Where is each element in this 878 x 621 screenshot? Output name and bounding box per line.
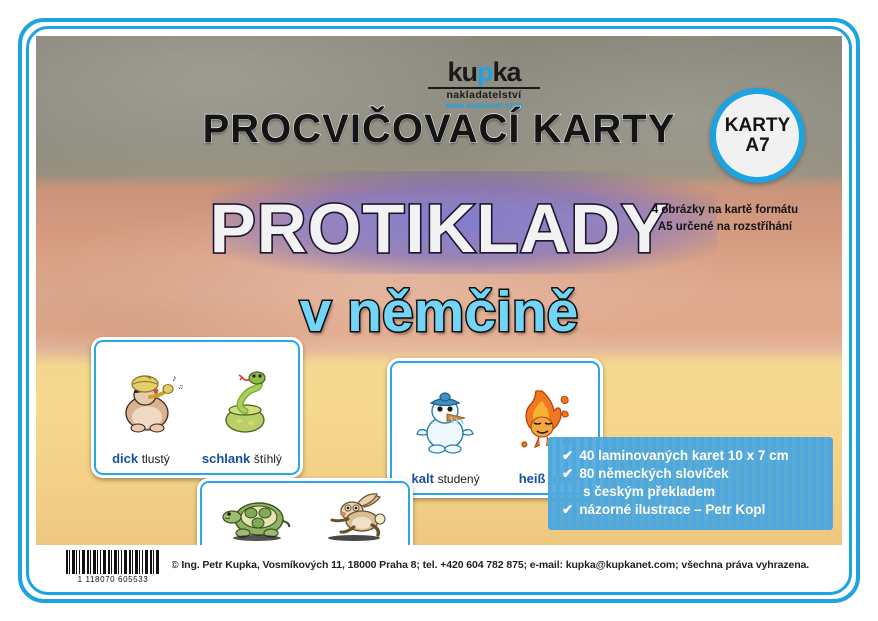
barcode-bars bbox=[66, 550, 160, 574]
card-illustrations: ♪ ♫ bbox=[96, 342, 298, 451]
card-inner: ♪ ♫ bbox=[94, 340, 300, 475]
logo-subtitle: nakladatelství bbox=[428, 87, 540, 101]
product-cover: kupka nakladatelství www.kupkanet.com PR… bbox=[18, 18, 860, 603]
label-kalt: kalt studený bbox=[412, 471, 480, 486]
features-list: ✔ 40 laminovaných karet 10 x 7 cm ✔ 80 n… bbox=[562, 447, 821, 519]
barcode-digits: 1 118070 605533 bbox=[78, 575, 149, 584]
svg-text:♫: ♫ bbox=[178, 384, 183, 391]
card-labels: dick tlustý schlank štíhlý bbox=[96, 451, 298, 473]
fat-snake-charmer-icon: ♪ ♫ bbox=[114, 363, 186, 435]
logo-word-part3: ka bbox=[492, 57, 520, 87]
sample-card-dick-schlank: ♪ ♫ bbox=[91, 337, 303, 478]
barcode: 1 118070 605533 bbox=[54, 545, 172, 585]
feature-text-2: 80 německých slovíček bbox=[579, 465, 728, 483]
feature-item-2: ✔ 80 německých slovíček bbox=[562, 465, 821, 483]
page-subtitle: v němčině bbox=[29, 279, 849, 345]
turtle-icon bbox=[221, 493, 293, 543]
label-dick: dick tlustý bbox=[112, 451, 170, 466]
badge-line-2: A7 bbox=[745, 136, 769, 156]
copyright-text: © Ing. Petr Kupka, Vosmíkových 11, 18000… bbox=[154, 559, 842, 571]
logo-word-part2: p bbox=[477, 57, 493, 87]
snowman-icon bbox=[411, 383, 483, 455]
thin-snake-icon bbox=[209, 363, 281, 435]
logo-word-part1: ku bbox=[447, 57, 477, 87]
badge-line-1: KARTY bbox=[725, 116, 790, 136]
svg-text:♪: ♪ bbox=[172, 373, 177, 383]
feature-item-1: ✔ 40 laminovaných karet 10 x 7 cm bbox=[562, 447, 821, 465]
format-note-line-1: 4 obrázky na kartě formátu bbox=[639, 202, 811, 219]
format-note: 4 obrázky na kartě formátu A5 určené na … bbox=[639, 202, 811, 235]
features-box: ✔ 40 laminovaných karet 10 x 7 cm ✔ 80 n… bbox=[548, 437, 833, 530]
check-icon: ✔ bbox=[562, 465, 573, 483]
rabbit-icon bbox=[318, 493, 390, 543]
logo-wordmark: kupka bbox=[428, 59, 540, 86]
feature-text-3: názorné ilustrace – Petr Kopl bbox=[579, 501, 765, 519]
label-schlank: schlank štíhlý bbox=[202, 451, 282, 466]
format-note-line-2: A5 určené na rozstříhání bbox=[639, 219, 811, 236]
footer-strip: 1 118070 605533 © Ing. Petr Kupka, Vosmí… bbox=[36, 545, 842, 585]
feature-item-3: ✔ názorné ilustrace – Petr Kopl bbox=[562, 501, 821, 519]
feature-item-2-continuation: s českým překladem bbox=[562, 483, 821, 501]
publisher-logo: kupka nakladatelství www.kupkanet.com bbox=[428, 59, 540, 110]
card-illustrations bbox=[202, 483, 408, 548]
status-badge: KARTY A7 bbox=[710, 88, 805, 183]
feature-text-1: 40 laminovaných karet 10 x 7 cm bbox=[579, 447, 788, 465]
check-icon: ✔ bbox=[562, 501, 573, 519]
cover-inner-frame: kupka nakladatelství www.kupkanet.com PR… bbox=[26, 26, 852, 595]
check-icon: ✔ bbox=[562, 447, 573, 465]
